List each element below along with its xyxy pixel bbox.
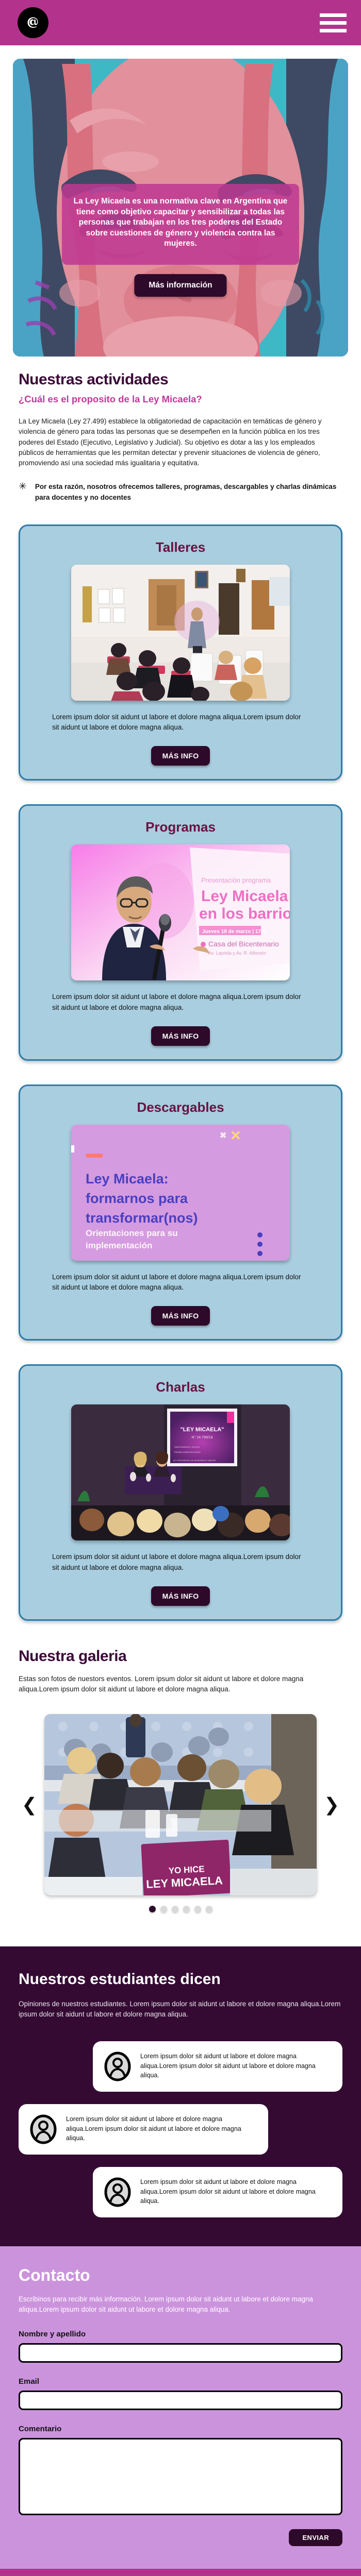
mas-informacion-button[interactable]: Más información	[134, 274, 226, 297]
program-venue-text: Casa del Bicentenario	[208, 940, 279, 948]
testimonial-text: Lorem ipsum dolor sit aidunt ut labore e…	[140, 2052, 331, 2080]
card-image-programas: Presentación programa Ley Micaela en los…	[71, 844, 290, 980]
card-title-descargables: Descargables	[29, 1099, 332, 1115]
submit-row: ENVIAR	[19, 2529, 342, 2546]
cover-subtitle-line-1: Orientaciones para su	[86, 1228, 178, 1238]
contact-lead: Escribinos para recibir más información.…	[19, 2294, 342, 2315]
activity-card-programas: Programas Presentación programa Ley Mica…	[19, 804, 342, 1061]
carousel-prev-button[interactable]: ❮	[20, 1795, 39, 1814]
cover-title-line-1: Ley Micaela:	[86, 1171, 169, 1187]
program-address-text: Av. Laprida y Av. R. Alfonsín	[208, 951, 266, 956]
asterisk-icon: ✳	[19, 482, 27, 493]
testimonials-list: Lorem ipsum dolor sit aidunt ut labore e…	[19, 2041, 342, 2217]
card-image-charlas: "LEY MICAELA" N° 24.799/18 SANCIONADA EL…	[71, 1404, 290, 1540]
program-headline-2: en los barrios	[199, 905, 290, 922]
carousel-dot-5[interactable]	[194, 1906, 201, 1912]
card-description-charlas: Lorem ipsum dolor sit aidunt ut labore e…	[29, 1552, 332, 1573]
svg-text:SANCIONADA EL 19/12/18: SANCIONADA EL 19/12/18	[174, 1446, 200, 1448]
gallery-lead: Estas son fotos de nuestors eventos. Lor…	[19, 1674, 342, 1695]
avatar-icon	[104, 2052, 131, 2081]
cover-x-small-icon: ✖	[220, 1131, 226, 1140]
slide-title-text: "LEY MICAELA"	[180, 1427, 224, 1433]
hamburger-menu-icon[interactable]	[320, 13, 347, 32]
gallery-title: Nuestra galeria	[19, 1648, 342, 1665]
svg-text:PROMULGADA EN 01/2019: PROMULGADA EN 01/2019	[174, 1451, 201, 1453]
enviar-button[interactable]: ENVIAR	[289, 2529, 342, 2546]
activities-bullet-text: Por esta razón, nosotros ofrecemos talle…	[35, 482, 342, 503]
card-image-descargables: ✖ ✕ Ley Micaela: formarnos para transfor…	[71, 1125, 290, 1261]
carousel-slide[interactable]: YO HICE LEY MICAELA	[44, 1714, 317, 1895]
cover-x-large-icon: ✕	[230, 1128, 241, 1143]
testimonial-card: Lorem ipsum dolor sit aidunt ut labore e…	[93, 2041, 342, 2092]
contact-section: Contacto Escribinos para recibir más inf…	[0, 2246, 361, 2569]
cover-title-line-3: transformar(nos)	[86, 1210, 198, 1226]
card-title-charlas: Charlas	[29, 1379, 332, 1395]
comment-textarea[interactable]	[19, 2438, 342, 2515]
mas-info-button-charlas[interactable]: MÁS INFO	[151, 1586, 210, 1606]
program-headline-1: Ley Micaela	[201, 888, 288, 905]
avatar-icon	[30, 2114, 57, 2144]
name-input[interactable]	[19, 2343, 342, 2363]
hamburger-bar-1	[320, 13, 347, 17]
activities-title: Nuestras actividades	[19, 371, 342, 388]
testimonials-lead: Opiniones de nuestros estudiantes. Lorem…	[19, 1999, 342, 2020]
activity-card-descargables: Descargables ✖ ✕ Ley Micaela: formarnos …	[19, 1084, 342, 1341]
testimonials-title: Nuestros estudiantes dicen	[19, 1970, 342, 1988]
cover-red-dash	[86, 1154, 103, 1158]
gallery-section: Nuestra galeria Estas son fotos de nuest…	[0, 1621, 361, 1913]
footer: Lorem ipsum dolor sit aidunt ut labore e…	[0, 2569, 361, 2576]
hero-section: La Ley Micaela es una normativa clave en…	[0, 45, 361, 357]
name-field-label: Nombre y apellido	[19, 2330, 342, 2338]
cover-subtitle-line-2: implementación	[86, 1241, 152, 1250]
hero-overlay-card: La Ley Micaela es una normativa clave en…	[62, 184, 299, 265]
card-description-descargables: Lorem ipsum dolor sit aidunt ut labore e…	[29, 1272, 332, 1293]
activities-subtitle: ¿Cuál es el proposito de la Ley Micaela?	[19, 394, 342, 405]
carousel-dot-1[interactable]	[149, 1906, 156, 1912]
carousel-dot-4[interactable]	[183, 1906, 190, 1912]
navbar	[0, 0, 361, 45]
program-date-text: Jueves 18 de marzo | 17 h	[202, 929, 266, 935]
card-description-talleres: Lorem ipsum dolor sit aidunt ut labore e…	[29, 712, 332, 733]
activities-intro: Nuestras actividades ¿Cuál es el proposi…	[0, 357, 361, 503]
cover-dots-icon	[257, 1232, 262, 1256]
comment-field-label: Comentario	[19, 2425, 342, 2433]
testimonial-text: Lorem ipsum dolor sit aidunt ut labore e…	[66, 2114, 257, 2143]
hamburger-bar-3	[320, 29, 347, 32]
activities-bullet: ✳ Por esta razón, nosotros ofrecemos tal…	[19, 482, 342, 503]
carousel-dot-6[interactable]	[206, 1906, 212, 1912]
mas-info-button-talleres[interactable]: MÁS INFO	[151, 746, 210, 766]
email-input[interactable]	[19, 2391, 342, 2410]
carousel-next-button[interactable]: ❯	[322, 1795, 341, 1814]
card-title-talleres: Talleres	[29, 539, 332, 555]
email-field-label: Email	[19, 2377, 342, 2386]
card-title-programas: Programas	[29, 819, 332, 835]
carousel-dot-2[interactable]	[160, 1906, 167, 1912]
mas-info-button-descargables[interactable]: MÁS INFO	[151, 1306, 210, 1326]
activity-cards: Talleres	[0, 503, 361, 1621]
slide-number-text: N° 24.799/18	[192, 1435, 213, 1439]
hero-banner: La Ley Micaela es una normativa clave en…	[13, 59, 348, 357]
activity-card-charlas: Charlas "LEY MICAELA" N° 24.799/18	[19, 1364, 342, 1621]
svg-text:LEY PROVINCIAL DE ADHESIÓN N°: LEY PROVINCIAL DE ADHESIÓN N° 6021/20	[173, 1459, 216, 1462]
hero-overlay-text: La Ley Micaela es una normativa clave en…	[71, 196, 290, 249]
sign-line-1: YO HICE	[168, 1864, 205, 1876]
testimonial-card: Lorem ipsum dolor sit aidunt ut labore e…	[19, 2104, 268, 2155]
activity-card-talleres: Talleres	[19, 524, 342, 781]
contact-title: Contacto	[19, 2266, 342, 2285]
testimonial-text: Lorem ipsum dolor sit aidunt ut labore e…	[140, 2177, 331, 2206]
mas-info-button-programas[interactable]: MÁS INFO	[151, 1026, 210, 1046]
gallery-carousel: ❮	[19, 1714, 342, 1895]
carousel-dots	[19, 1906, 342, 1912]
at-sign-logo[interactable]	[18, 7, 48, 38]
testimonials-section: Nuestros estudiantes dicen Opiniones de …	[0, 1946, 361, 2246]
cover-title-line-2: formarnos para	[86, 1191, 188, 1206]
card-image-talleres	[71, 565, 290, 701]
hamburger-bar-2	[320, 21, 347, 25]
activities-paragraph: La Ley Micaela (Ley 27.499) establece la…	[19, 416, 342, 468]
testimonial-card: Lorem ipsum dolor sit aidunt ut labore e…	[93, 2167, 342, 2217]
program-kicker-text: Presentación programa	[201, 876, 271, 884]
card-description-programas: Lorem ipsum dolor sit aidunt ut labore e…	[29, 992, 332, 1013]
carousel-dot-3[interactable]	[172, 1906, 178, 1912]
avatar-icon	[104, 2177, 131, 2207]
